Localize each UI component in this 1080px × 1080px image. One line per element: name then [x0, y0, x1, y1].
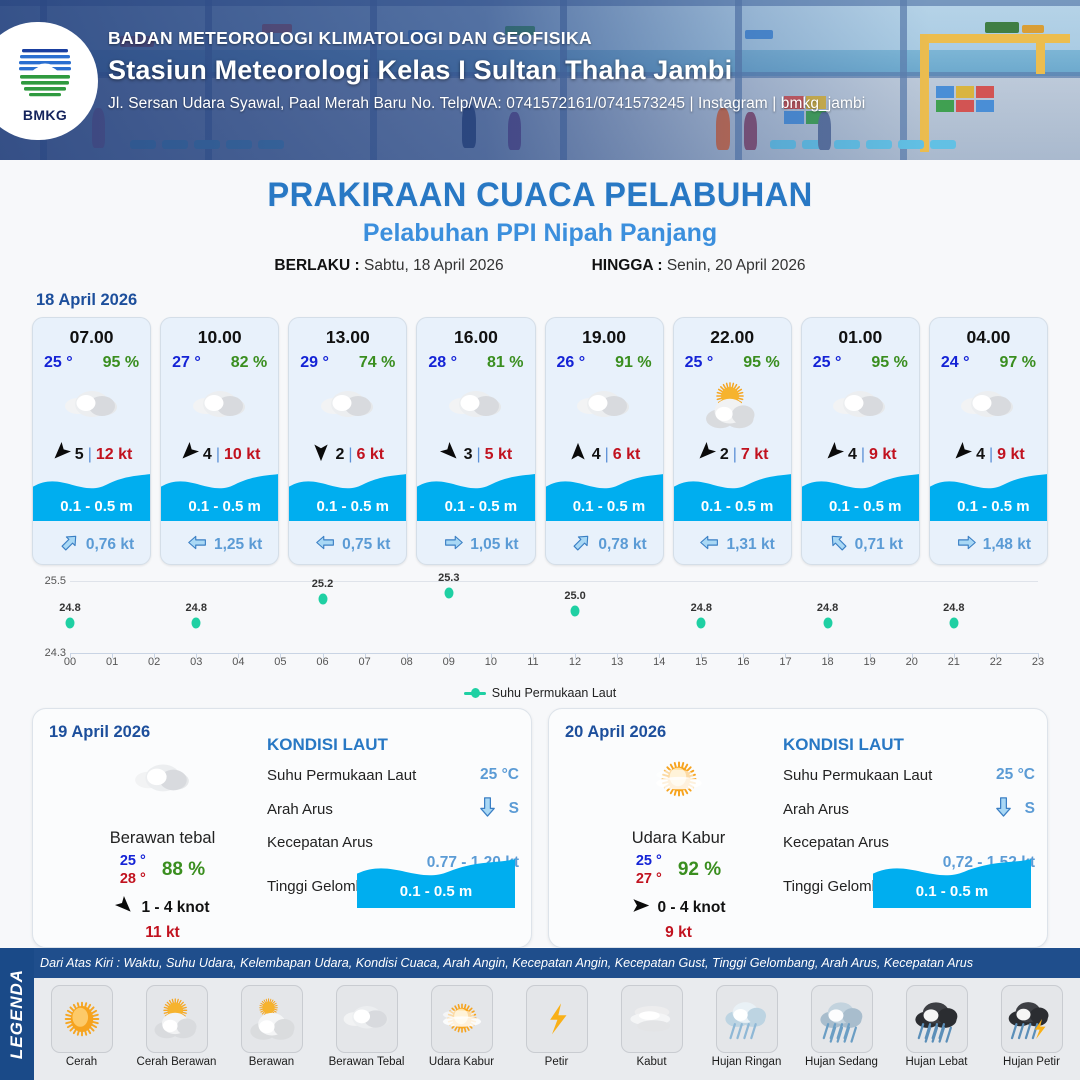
current-speed-label: Kecepatan Arus	[783, 834, 889, 851]
card-humidity: 97 %	[1000, 354, 1036, 372]
sst-label: Suhu Permukaan Laut	[267, 767, 416, 784]
title-block: PRAKIRAAN CUACA PELABUHAN Pelabuhan PPI …	[0, 176, 1080, 275]
legend-item: Berawan Tebal	[319, 985, 414, 1068]
organization-name: BADAN METEOROLOGI KLIMATOLOGI DAN GEOFIS…	[108, 28, 1038, 49]
legend-item: Petir	[509, 985, 604, 1068]
card-humidity: 91 %	[615, 354, 651, 372]
card-weather-icon-berawan-tebal	[930, 375, 1047, 437]
legend-item: Cerah	[34, 985, 129, 1068]
hingga-label: HINGGA :	[592, 257, 663, 274]
chart-data-point	[318, 594, 327, 605]
day-condition: Berawan tebal	[55, 829, 270, 848]
day-gust: 11 kt	[55, 924, 270, 942]
card-humidity: 74 %	[359, 354, 395, 372]
day-temp-min: 25 °	[636, 852, 662, 870]
wind-direction-arrow-icon	[568, 442, 588, 467]
chart-x-axis: 0001020304050607080910111213141516171819…	[70, 653, 1038, 675]
current-direction-arrow-icon	[571, 532, 592, 558]
card-time: 07.00	[33, 327, 150, 348]
legend-icons-strip: Cerah Cerah Berawan Berawan	[34, 978, 1080, 1080]
current-direction-arrow-icon	[443, 532, 464, 558]
day-temp-max: 27 °	[636, 870, 662, 888]
card-temperature: 29 °	[300, 354, 329, 372]
chart-data-point	[66, 618, 75, 629]
wind-direction-arrow-icon	[179, 442, 199, 467]
day-wind-direction-arrow-icon	[631, 896, 650, 920]
card-humidity: 82 %	[231, 354, 267, 372]
card-wave-height: 0.1 - 0.5 m	[546, 498, 664, 515]
day-gust: 9 kt	[571, 924, 786, 942]
card-current-speed: 1,25 kt	[214, 536, 262, 554]
current-direction-arrow-icon	[476, 795, 499, 823]
card-gust-speed: 9 kt	[997, 446, 1025, 464]
chart-legend-marker-icon	[464, 692, 486, 695]
card-weather-icon-berawan-tebal	[417, 375, 534, 437]
day-humidity: 88 %	[162, 859, 205, 881]
sst-label: Suhu Permukaan Laut	[783, 767, 932, 784]
chart-x-tick: 11	[527, 656, 538, 668]
chart-x-tick: 23	[1032, 656, 1044, 668]
wind-direction-arrow-icon	[824, 442, 844, 467]
legend-item-label: Cerah	[34, 1056, 129, 1068]
card-wind-speed: 4	[848, 446, 857, 464]
card-wind-speed: 5	[75, 446, 84, 464]
station-name: Stasiun Meteorologi Kelas I Sultan Thaha…	[108, 55, 1038, 86]
chart-x-tick: 05	[274, 656, 286, 668]
day-wind-direction-arrow-icon	[115, 896, 134, 920]
chart-point-label: 24.8	[817, 602, 838, 614]
chart-x-tick: 13	[611, 656, 623, 668]
card-wind-speed: 2	[720, 446, 729, 464]
legend-item: Hujan Sedang	[794, 985, 889, 1068]
chart-x-tick: 19	[864, 656, 876, 668]
legend-item: Hujan Lebat	[889, 985, 984, 1068]
forecast-card: 16.00 28 ° 81 % 3 | 5 kt 0.1 - 0.5 m 1,0…	[416, 317, 535, 565]
card-wind-separator: |	[348, 446, 352, 464]
chart-y-tick: 25.5	[34, 575, 66, 587]
day-temp-min: 25 °	[120, 852, 146, 870]
card-weather-icon-cerah-berawan	[674, 375, 791, 437]
day-temp-max: 28 °	[120, 870, 146, 888]
card-gust-speed: 5 kt	[485, 446, 513, 464]
legend-icon-hujan-petir	[1001, 985, 1063, 1053]
card-current-speed: 0,78 kt	[598, 536, 646, 554]
legend-item-label: Hujan Lebat	[889, 1056, 984, 1068]
legend-item: Berawan	[224, 985, 319, 1068]
chart-data-point	[823, 618, 832, 629]
forecast-date-label: 18 April 2026	[36, 291, 1080, 310]
card-gust-speed: 12 kt	[96, 446, 132, 464]
hingga-value: Senin, 20 April 2026	[667, 257, 806, 274]
day-wave-value: 0.1 - 0.5 m	[357, 883, 515, 900]
sea-condition-title: KONDISI LAUT	[267, 735, 519, 755]
current-direction-arrow-icon	[992, 795, 1015, 823]
chart-data-point	[192, 618, 201, 629]
current-speed-label: Kecepatan Arus	[267, 834, 373, 851]
chart-x-tick: 21	[948, 656, 960, 668]
chart-x-tick: 04	[232, 656, 244, 668]
card-humidity: 81 %	[487, 354, 523, 372]
card-weather-icon-berawan-tebal	[289, 375, 406, 437]
forecast-card: 07.00 25 ° 95 % 5 | 12 kt 0.1 - 0.5 m 0,…	[32, 317, 151, 565]
chart-plot-area: 25.524.324.824.825.225.325.024.824.824.8	[70, 581, 1038, 653]
day-condition: Udara Kabur	[571, 829, 786, 848]
card-wind-separator: |	[477, 446, 481, 464]
legend-item-label: Berawan	[224, 1056, 319, 1068]
validity-row: BERLAKU : Sabtu, 18 April 2026 HINGGA : …	[0, 257, 1080, 275]
card-current-speed: 0,71 kt	[855, 536, 903, 554]
card-wind-speed: 3	[464, 446, 473, 464]
sst-value: 25 °C	[480, 766, 519, 784]
chart-x-tick: 07	[358, 656, 370, 668]
card-wind-separator: |	[861, 446, 865, 464]
berlaku-value: Sabtu, 18 April 2026	[364, 257, 504, 274]
legend-bar: LEGENDA Dari Atas Kiri : Waktu, Suhu Uda…	[0, 948, 1080, 1080]
chart-x-tick: 03	[190, 656, 202, 668]
forecast-card: 19.00 26 ° 91 % 4 | 6 kt 0.1 - 0.5 m 0,7…	[545, 317, 664, 565]
legend-item: Kabut	[604, 985, 699, 1068]
wind-direction-arrow-icon	[440, 442, 460, 467]
chart-x-tick: 15	[695, 656, 707, 668]
forecast-card: 10.00 27 ° 82 % 4 | 10 kt 0.1 - 0.5 m 1,…	[160, 317, 279, 565]
sst-chart: 25.524.324.824.825.225.325.024.824.824.8…	[34, 581, 1046, 681]
card-wind-speed: 4	[592, 446, 601, 464]
page-title: PRAKIRAAN CUACA PELABUHAN	[22, 176, 1059, 215]
card-current-speed: 1,31 kt	[726, 536, 774, 554]
wind-direction-arrow-icon	[311, 442, 331, 467]
chart-data-point	[571, 606, 580, 617]
card-wave-height: 0.1 - 0.5 m	[289, 498, 407, 515]
chart-x-tick: 00	[64, 656, 76, 668]
card-temperature: 26 °	[557, 354, 586, 372]
card-weather-icon-berawan-tebal	[161, 375, 278, 437]
card-wind-speed: 4	[203, 446, 212, 464]
current-direction-value: S	[509, 800, 519, 818]
chart-point-label: 25.3	[438, 572, 459, 584]
legend-icon-cerah	[51, 985, 113, 1053]
card-weather-icon-berawan-tebal	[33, 375, 150, 437]
chart-legend-label: Suhu Permukaan Laut	[492, 686, 616, 700]
card-wind-separator: |	[88, 446, 92, 464]
current-direction-label: Arah Arus	[783, 801, 849, 818]
chart-point-label: 25.2	[312, 578, 333, 590]
day-humidity: 92 %	[678, 859, 721, 881]
legend-side-label: LEGENDA	[0, 948, 34, 1080]
page-subtitle: Pelabuhan PPI Nipah Panjang	[0, 219, 1080, 248]
chart-x-tick: 06	[316, 656, 328, 668]
card-time: 01.00	[802, 327, 919, 348]
card-wind-separator: |	[989, 446, 993, 464]
legend-item-label: Hujan Petir	[984, 1056, 1079, 1068]
legend-icon-udara-kabur	[431, 985, 493, 1053]
chart-x-tick: 01	[106, 656, 118, 668]
chart-point-label: 24.8	[186, 602, 207, 614]
day-wave-value: 0.1 - 0.5 m	[873, 883, 1031, 900]
legend-item-label: Berawan Tebal	[319, 1056, 414, 1068]
card-humidity: 95 %	[103, 354, 139, 372]
legend-item-label: Hujan Ringan	[699, 1056, 794, 1068]
chart-data-point	[949, 618, 958, 629]
current-direction-label: Arah Arus	[267, 801, 333, 818]
card-wave-height: 0.1 - 0.5 m	[930, 498, 1048, 515]
card-gust-speed: 9 kt	[869, 446, 897, 464]
hourly-forecast-strip: 07.00 25 ° 95 % 5 | 12 kt 0.1 - 0.5 m 0,…	[0, 317, 1080, 565]
chart-x-tick: 16	[737, 656, 749, 668]
legend-item-label: Hujan Sedang	[794, 1056, 889, 1068]
chart-x-tick: 14	[653, 656, 665, 668]
current-direction-arrow-icon	[187, 532, 208, 558]
legend-item-label: Petir	[509, 1056, 604, 1068]
card-temperature: 25 °	[685, 354, 714, 372]
forecast-card: 04.00 24 ° 97 % 4 | 9 kt 0.1 - 0.5 m 1,4…	[929, 317, 1048, 565]
chart-point-label: 24.8	[943, 602, 964, 614]
card-time: 13.00	[289, 327, 406, 348]
legend-icon-hujan-sedang	[811, 985, 873, 1053]
card-wind-separator: |	[605, 446, 609, 464]
legend-item: Udara Kabur	[414, 985, 509, 1068]
day-wave-graphic-icon	[873, 856, 1031, 908]
legend-item: Hujan Petir	[984, 985, 1079, 1068]
chart-legend: Suhu Permukaan Laut	[0, 686, 1080, 700]
card-temperature: 25 °	[813, 354, 842, 372]
chart-x-tick: 08	[401, 656, 413, 668]
chart-point-label: 25.0	[564, 590, 585, 602]
card-time: 16.00	[417, 327, 534, 348]
card-wave-height: 0.1 - 0.5 m	[161, 498, 279, 515]
legend-note: Dari Atas Kiri : Waktu, Suhu Udara, Kele…	[40, 956, 1075, 970]
chart-y-tick: 24.3	[34, 647, 66, 659]
forecast-card: 22.00 25 ° 95 % 2 | 7 kt 0.1 - 0.5 m 1	[673, 317, 792, 565]
legend-item: Cerah Berawan	[129, 985, 224, 1068]
card-gust-speed: 6 kt	[613, 446, 641, 464]
day-wind-range: 1 - 4 knot	[141, 899, 209, 917]
bmkg-logo-text: BMKG	[8, 107, 82, 123]
legend-icon-hujan-ringan	[716, 985, 778, 1053]
chart-x-tick: 22	[990, 656, 1002, 668]
card-gust-speed: 10 kt	[224, 446, 260, 464]
station-address: Jl. Sersan Udara Syawal, Paal Merah Baru…	[108, 95, 1038, 113]
legend-icon-cerah-berawan	[146, 985, 208, 1053]
berlaku-label: BERLAKU :	[274, 257, 359, 274]
legend-item: Hujan Ringan	[699, 985, 794, 1068]
chart-point-label: 24.8	[691, 602, 712, 614]
card-wind-speed: 2	[335, 446, 344, 464]
chart-gridline	[70, 581, 1038, 582]
current-direction-arrow-icon	[699, 532, 720, 558]
card-current-speed: 1,05 kt	[470, 536, 518, 554]
card-wave-height: 0.1 - 0.5 m	[674, 498, 792, 515]
current-direction-arrow-icon	[59, 532, 80, 558]
card-wind-speed: 4	[976, 446, 985, 464]
card-wave-height: 0.1 - 0.5 m	[33, 498, 151, 515]
card-temperature: 27 °	[172, 354, 201, 372]
chart-data-point	[444, 588, 453, 599]
card-time: 19.00	[546, 327, 663, 348]
chart-point-label: 24.8	[59, 602, 80, 614]
chart-x-tick: 10	[485, 656, 497, 668]
card-temperature: 28 °	[428, 354, 457, 372]
legend-icon-hujan-lebat	[906, 985, 968, 1053]
chart-data-point	[697, 618, 706, 629]
current-direction-arrow-icon	[956, 532, 977, 558]
day-wave-graphic-icon	[357, 856, 515, 908]
card-wave-height: 0.1 - 0.5 m	[802, 498, 920, 515]
legend-icon-kabut	[621, 985, 683, 1053]
legend-icon-berawan-tebal	[336, 985, 398, 1053]
current-direction-arrow-icon	[828, 532, 849, 558]
chart-x-tick: 09	[443, 656, 455, 668]
page-header: BMKG BADAN METEOROLOGI KLIMATOLOGI DAN G…	[0, 0, 1080, 160]
legend-side-text: LEGENDA	[7, 969, 27, 1059]
bmkg-emblem-icon	[8, 39, 82, 107]
chart-x-tick: 18	[821, 656, 833, 668]
wind-direction-arrow-icon	[696, 442, 716, 467]
card-current-speed: 0,76 kt	[86, 536, 134, 554]
card-humidity: 95 %	[743, 354, 779, 372]
chart-x-tick: 02	[148, 656, 160, 668]
chart-x-tick: 20	[906, 656, 918, 668]
card-current-speed: 1,48 kt	[983, 536, 1031, 554]
wind-direction-arrow-icon	[952, 442, 972, 467]
card-wave-height: 0.1 - 0.5 m	[417, 498, 535, 515]
chart-x-tick: 17	[779, 656, 791, 668]
current-direction-arrow-icon	[315, 532, 336, 558]
day-wind-range: 0 - 4 knot	[657, 899, 725, 917]
card-temperature: 24 °	[941, 354, 970, 372]
card-humidity: 95 %	[871, 354, 907, 372]
card-time: 22.00	[674, 327, 791, 348]
forecast-card: 13.00 29 ° 74 % 2 | 6 kt 0.1 - 0.5 m 0,7…	[288, 317, 407, 565]
card-current-speed: 0,75 kt	[342, 536, 390, 554]
card-gust-speed: 6 kt	[357, 446, 385, 464]
chart-x-tick: 12	[569, 656, 581, 668]
card-wind-separator: |	[216, 446, 220, 464]
card-wind-separator: |	[733, 446, 737, 464]
current-direction-value: S	[1025, 800, 1035, 818]
legend-icon-petir	[526, 985, 588, 1053]
wind-direction-arrow-icon	[51, 442, 71, 467]
forecast-card: 01.00 25 ° 95 % 4 | 9 kt 0.1 - 0.5 m 0,7…	[801, 317, 920, 565]
card-gust-speed: 7 kt	[741, 446, 769, 464]
sst-value: 25 °C	[996, 766, 1035, 784]
daily-forecast-panel: 19 April 2026 Berawan tebal 25 ° 28 ° 88…	[32, 708, 532, 948]
card-temperature: 25 °	[44, 354, 73, 372]
legend-item-label: Cerah Berawan	[129, 1056, 224, 1068]
day-weather-icon-berawan-tebal	[55, 749, 270, 811]
card-weather-icon-berawan-tebal	[802, 375, 919, 437]
sea-condition-title: KONDISI LAUT	[783, 735, 1035, 755]
card-time: 10.00	[161, 327, 278, 348]
legend-item-label: Kabut	[604, 1056, 699, 1068]
card-time: 04.00	[930, 327, 1047, 348]
daily-forecast-panel: 20 April 2026 Udara Kabur 25 ° 27 ° 92 %…	[548, 708, 1048, 948]
daily-forecast-panels: 19 April 2026 Berawan tebal 25 ° 28 ° 88…	[0, 708, 1080, 948]
legend-icon-berawan	[241, 985, 303, 1053]
legend-item-label: Udara Kabur	[414, 1056, 509, 1068]
day-weather-icon-udara-kabur	[571, 749, 786, 811]
card-weather-icon-berawan-tebal	[546, 375, 663, 437]
